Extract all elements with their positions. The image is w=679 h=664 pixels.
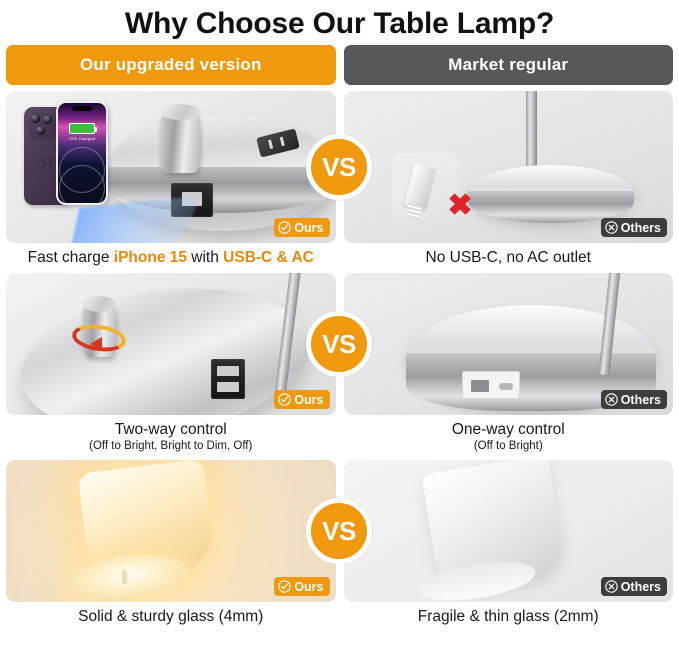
iphone-front: 70% Charged (56, 101, 108, 205)
vs-badge-row-3: VS (306, 498, 372, 564)
row-2-others-photo: Others (344, 273, 674, 415)
row-1-ours-caption: Fast charge iPhone 15 with USB-C & AC (6, 243, 336, 267)
row-2-ours-caption: Two-way control (6, 415, 336, 439)
rotation-arrow-head-icon (90, 337, 102, 351)
badge-ours-row-2: Ours (274, 390, 329, 409)
row-3-ours-cell: Ours Solid & sturdy glass (4mm) (6, 460, 336, 626)
x-circle-icon (605, 580, 618, 593)
lamp-knob-top (160, 104, 200, 120)
row-2-others-caption: One-way control (344, 415, 674, 439)
lamp-knob (160, 111, 200, 173)
badge-others-row-1: Others (601, 218, 667, 237)
badge-others-label: Others (621, 580, 661, 594)
badge-ours-row-1: Ours (274, 218, 329, 237)
dynamic-island (72, 106, 92, 111)
lampshade-opening (66, 549, 190, 602)
camera-module (29, 112, 56, 139)
row-2-ours-subcaption: (Off to Bright, Bright to Dim, Off) (6, 439, 336, 453)
screen-arc-2 (59, 165, 105, 203)
row-3-ours-photo: Ours (6, 460, 336, 602)
battery-charging-icon (69, 123, 95, 134)
badge-others-row-3: Others (601, 577, 667, 596)
comparison-row-1: VS (0, 91, 679, 267)
page-title: Why Choose Our Table Lamp? (0, 0, 679, 45)
caption-highlight-iphone: iPhone 15 (114, 249, 187, 266)
lamp-base-tilted (12, 273, 319, 415)
row-1-others-cell: ✖ Others No USB-C, no AC outlet (344, 91, 674, 267)
usb-slot-upper (217, 366, 239, 376)
usb-dual-port (211, 359, 245, 399)
row-2-ours-photo: Ours (6, 273, 336, 415)
two-way-knob-top (82, 296, 116, 312)
row-2-others-cell: Others One-way control (Off to Bright) (344, 273, 674, 453)
vs-badge-row-1: VS (306, 134, 372, 200)
camera-lens-3 (36, 126, 45, 135)
badge-ours-row-3: Ours (274, 577, 329, 596)
bulb-stem (122, 570, 127, 584)
usb-port-others (462, 371, 520, 399)
usb-slot-others (471, 380, 489, 392)
usbc-slot-others (499, 383, 513, 390)
column-headers: Our upgraded version Market regular (0, 45, 679, 85)
apple-logo-icon:  (42, 155, 53, 168)
header-others: Market regular (344, 45, 674, 85)
row-1-ours-photo:  70% Charged (6, 91, 336, 243)
battery-status-label: 70% Charged (69, 136, 96, 141)
badge-ours-label: Ours (294, 580, 323, 594)
badge-ours-label: Ours (294, 221, 323, 235)
header-ours: Our upgraded version (6, 45, 336, 85)
check-circle-icon (278, 393, 291, 406)
iphone-screen: 70% Charged (58, 103, 106, 203)
caption-part-3: with (187, 249, 223, 266)
x-circle-icon (605, 393, 618, 406)
usbc-plug-icon (404, 163, 436, 211)
red-x-icon: ✖ (448, 191, 473, 221)
caption-highlight-usbc: USB-C & AC (223, 249, 314, 266)
camera-lens-1 (31, 114, 40, 123)
badge-ours-label: Ours (294, 393, 323, 407)
camera-lens-2 (43, 115, 52, 124)
row-2-ours-cell: Ours Two-way control (Off to Bright, Bri… (6, 273, 336, 453)
check-circle-icon (278, 580, 291, 593)
row-3-others-photo: Others (344, 460, 674, 602)
row-1-others-photo: ✖ Others (344, 91, 674, 243)
badge-others-label: Others (621, 393, 661, 407)
vs-badge-row-2: VS (306, 311, 372, 377)
row-1-others-caption: No USB-C, no AC outlet (344, 243, 674, 267)
row-3-others-caption: Fragile & thin glass (2mm) (344, 602, 674, 626)
check-circle-icon (278, 221, 291, 234)
x-circle-icon (605, 221, 618, 234)
row-3-ours-caption: Solid & sturdy glass (4mm) (6, 602, 336, 626)
badge-others-row-2: Others (601, 390, 667, 409)
row-2-others-subcaption: (Off to Bright) (344, 439, 674, 453)
row-3-others-cell: Others Fragile & thin glass (2mm) (344, 460, 674, 626)
badge-others-label: Others (621, 221, 661, 235)
usb-slot-lower (217, 382, 239, 392)
comparison-row-3: VS Ours Solid & sturdy glass (4mm) (0, 460, 679, 626)
row-1-ours-cell:  70% Charged (6, 91, 336, 267)
comparison-row-2: VS (0, 273, 679, 453)
caption-part-1: Fast charge (28, 249, 114, 266)
